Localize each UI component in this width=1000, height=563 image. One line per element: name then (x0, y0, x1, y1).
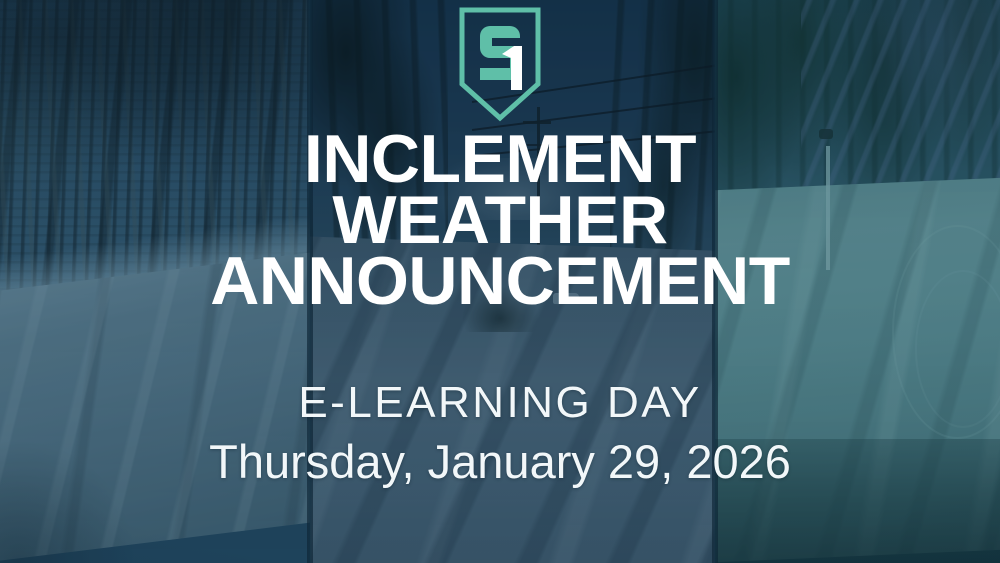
subtitle-date: Thursday, January 29, 2026 (0, 438, 1000, 485)
headline-line-2: WEATHER (0, 190, 1000, 251)
subtitle-block: E-LEARNING DAY Thursday, January 29, 202… (0, 381, 1000, 485)
subtitle-event-type: E-LEARNING DAY (0, 381, 1000, 425)
headline-line-1: INCLEMENT (0, 129, 1000, 190)
slide-content: INCLEMENT WEATHER ANNOUNCEMENT E-LEARNIN… (0, 0, 1000, 563)
headline-line-3: ANNOUNCEMENT (0, 251, 1000, 312)
announcement-slide: INCLEMENT WEATHER ANNOUNCEMENT E-LEARNIN… (0, 0, 1000, 563)
shield-logo (458, 6, 542, 122)
headline: INCLEMENT WEATHER ANNOUNCEMENT (0, 129, 1000, 313)
